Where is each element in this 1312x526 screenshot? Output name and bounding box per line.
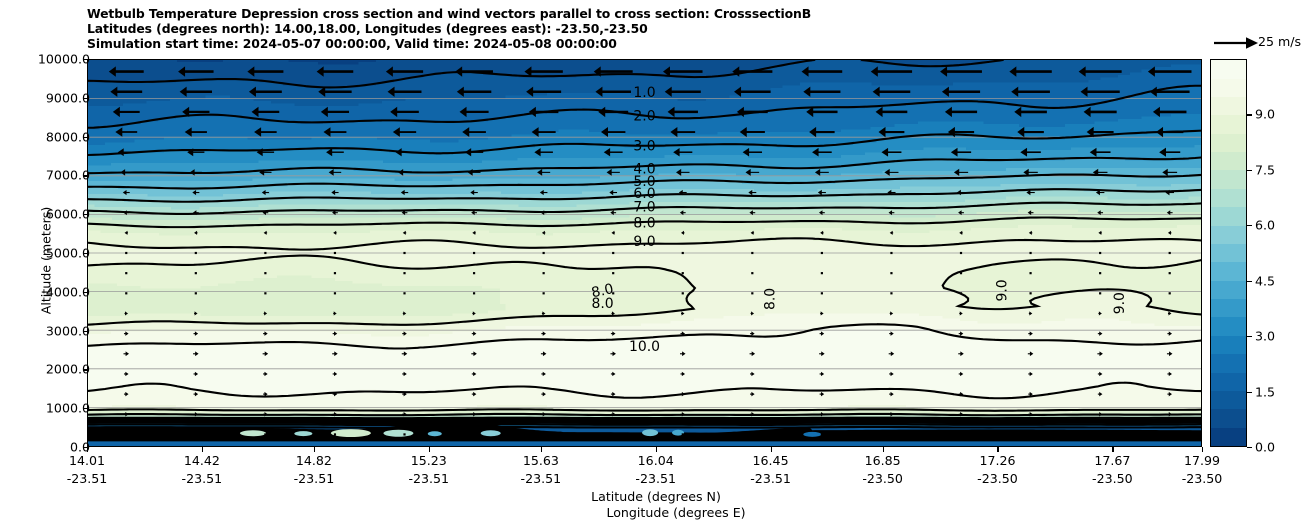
wind-vector-arrow: [403, 252, 405, 254]
x-tick-mark: [87, 447, 88, 452]
x-tick-label-latitude: 17.67: [1094, 453, 1130, 468]
x-tick-label-longitude: -23.51: [635, 471, 676, 486]
colorbar-tick-label: 6.0: [1255, 218, 1275, 233]
y-axis-label: Altitude (meters): [39, 161, 54, 361]
wind-vector-arrow: [334, 292, 336, 294]
wind-vector-arrow: [125, 292, 127, 294]
wind-vector-arrow: [751, 252, 753, 254]
x-tick-mark: [883, 447, 884, 452]
x-tick-mark: [1112, 447, 1113, 452]
colorbar-band: [1211, 97, 1246, 115]
wind-vector-arrow: [1029, 272, 1031, 274]
colorbar-tick-mark: [1247, 170, 1252, 171]
wind-vector-arrow: [403, 433, 405, 435]
title-subtitle-times: Simulation start time: 2024-05-07 00:00:…: [87, 36, 1187, 51]
surface-contour-pocket: [240, 430, 266, 436]
contour-label: 1.0: [629, 85, 660, 101]
y-tick-label: 10000.0: [38, 52, 90, 67]
contour-label: 2.0: [629, 108, 660, 124]
x-tick-mark: [429, 447, 430, 452]
wind-vector-arrow: [334, 272, 336, 274]
x-tick-label-latitude: 17.26: [979, 453, 1015, 468]
svg-text:9.0: 9.0: [1112, 292, 1128, 314]
x-tick-label-longitude: -23.51: [750, 471, 791, 486]
wind-vector-arrow: [543, 252, 545, 254]
contour-label: 8.0: [629, 216, 660, 232]
colorbar-band: [1211, 79, 1246, 97]
colorbar: [1210, 59, 1247, 447]
wind-vector-arrow: [264, 433, 266, 435]
y-tick-label: 8000.0: [46, 129, 90, 144]
surface-contour-pocket: [481, 430, 501, 436]
colorbar-band: [1211, 60, 1246, 78]
colorbar-tick-label: 3.0: [1255, 329, 1275, 344]
wind-vector-arrow: [1169, 433, 1171, 435]
x-tick-mark: [656, 447, 657, 452]
wind-vector-arrow: [821, 433, 823, 435]
x-tick-label-longitude: -23.50: [977, 471, 1018, 486]
wind-vector-arrow: [195, 433, 197, 435]
wind-vector-arrow: [960, 272, 962, 274]
x-axis-label-longitude: Longitude (degrees E): [20, 505, 1312, 520]
wind-vector-arrow: [1099, 292, 1101, 294]
wind-vector-arrow: [960, 292, 962, 294]
svg-text:10.0: 10.0: [629, 339, 660, 355]
svg-text:1.0: 1.0: [633, 85, 655, 101]
x-axis-label-latitude: Latitude (degrees N): [0, 489, 1312, 504]
cross-section-plot: 1.02.03.04.05.06.07.08.09.08.08.08.09.09…: [87, 59, 1202, 447]
wind-vector-arrow: [125, 433, 127, 435]
svg-text:8.0: 8.0: [591, 296, 613, 312]
x-tick-label-longitude: -23.51: [521, 471, 562, 486]
colorbar-tick-mark: [1247, 114, 1252, 115]
wind-vector-arrow: [890, 272, 892, 274]
colorbar-tick-label: 1.5: [1255, 384, 1275, 399]
wind-vector-arrow: [890, 292, 892, 294]
title-subtitle-coords: Latitudes (degrees north): 14.00,18.00, …: [87, 21, 1187, 36]
x-tick-mark: [202, 447, 203, 452]
wind-vector-arrow: [612, 272, 614, 274]
colorbar-band: [1211, 373, 1246, 391]
chart-title-block: Wetbulb Temperature Depression cross sec…: [87, 6, 1187, 52]
wind-vector-arrow: [473, 272, 475, 274]
colorbar-tick-mark: [1247, 281, 1252, 282]
surface-contour-pocket: [428, 431, 442, 436]
contour-label: 10.0: [625, 339, 664, 355]
wind-vector-arrow: [960, 252, 962, 254]
colorbar-band: [1211, 115, 1246, 133]
wind-vector-arrow: [264, 272, 266, 274]
wind-vector-arrow: [543, 433, 545, 435]
colorbar-tick-mark: [1247, 336, 1252, 337]
wind-vector-arrow: [264, 252, 266, 254]
y-tick-label: 2000.0: [46, 362, 90, 377]
wind-vector-arrow: [403, 272, 405, 274]
wind-vector-arrow: [751, 433, 753, 435]
colorbar-band: [1211, 134, 1246, 152]
surface-moist-sliver: [88, 441, 1201, 446]
colorbar-band: [1211, 299, 1246, 317]
wind-vector-arrow: [264, 292, 266, 294]
contour-label: 7.0: [629, 199, 660, 215]
x-tick-label-latitude: 14.01: [69, 453, 105, 468]
colorbar-band: [1211, 262, 1246, 280]
x-tick-mark: [541, 447, 542, 452]
contour-plot-svg: 1.02.03.04.05.06.07.08.09.08.08.08.09.09…: [88, 60, 1201, 446]
wind-vector-arrow: [612, 433, 614, 435]
svg-text:7.0: 7.0: [633, 199, 655, 215]
colorbar-band: [1211, 428, 1246, 446]
colorbar-band: [1211, 336, 1246, 354]
wind-vector-arrow: [682, 272, 684, 274]
wind-vector-arrow: [751, 272, 753, 274]
wind-vector-arrow: [682, 292, 684, 294]
colorbar-band: [1211, 226, 1246, 244]
contour-label: 3.0: [629, 138, 660, 154]
wind-vector-arrow: [751, 292, 753, 294]
wind-vector-arrow: [1099, 272, 1101, 274]
colorbar-band: [1211, 409, 1246, 427]
wind-vector-arrow: [195, 292, 197, 294]
x-tick-label-latitude: 17.99: [1184, 453, 1220, 468]
wind-vector-arrow: [1169, 272, 1171, 274]
colorbar-band: [1211, 152, 1246, 170]
wind-vector-arrow: [1169, 292, 1171, 294]
page-title: Wetbulb Temperature Depression cross sec…: [87, 6, 1187, 21]
surface-contour-pocket: [803, 432, 821, 437]
wind-vector-arrow: [1099, 433, 1101, 435]
wind-vector-arrow: [821, 292, 823, 294]
wind-vector-arrow: [682, 252, 684, 254]
colorbar-band: [1211, 391, 1246, 409]
x-tick-label-longitude: -23.51: [408, 471, 449, 486]
surface-contour-pocket: [383, 430, 413, 437]
wind-vector-arrow: [125, 252, 127, 254]
colorbar-tick-mark: [1247, 225, 1252, 226]
y-tick-label: 1000.0: [46, 401, 90, 416]
wind-vector-arrow: [334, 252, 336, 254]
wind-vector-arrow: [195, 252, 197, 254]
x-tick-label-longitude: -23.50: [862, 471, 903, 486]
x-tick-label-longitude: -23.50: [1092, 471, 1133, 486]
wind-vector-arrow: [1029, 252, 1031, 254]
x-tick-label-longitude: -23.51: [182, 471, 223, 486]
wind-vector-arrow: [543, 272, 545, 274]
wind-vector-arrow: [543, 292, 545, 294]
svg-text:2.0: 2.0: [633, 108, 655, 124]
contour-label: 8.0: [587, 296, 618, 312]
wind-vector-arrow: [473, 433, 475, 435]
svg-text:3.0: 3.0: [633, 138, 655, 154]
wind-vector-arrow: [1029, 433, 1031, 435]
x-tick-label-longitude: -23.51: [294, 471, 335, 486]
wind-vector-arrow: [473, 292, 475, 294]
x-tick-mark: [997, 447, 998, 452]
colorbar-tick-mark: [1247, 392, 1252, 393]
wind-vector-arrow: [125, 272, 127, 274]
x-tick-label-latitude: 14.82: [296, 453, 332, 468]
colorbar-tick-label: 7.5: [1255, 162, 1275, 177]
wind-vector-arrow: [821, 272, 823, 274]
x-tick-mark: [1202, 447, 1203, 452]
figure-canvas: Wetbulb Temperature Depression cross sec…: [0, 0, 1312, 526]
y-tick-label: 9000.0: [46, 90, 90, 105]
wind-vector-arrow: [195, 272, 197, 274]
colorbar-band: [1211, 170, 1246, 188]
wind-vector-arrow: [473, 252, 475, 254]
x-tick-label-latitude: 16.85: [865, 453, 901, 468]
x-tick-label-latitude: 15.63: [523, 453, 559, 468]
wind-vector-arrow: [1169, 252, 1171, 254]
colorbar-tick-mark: [1247, 447, 1252, 448]
x-tick-label-latitude: 15.23: [411, 453, 447, 468]
svg-text:9.0: 9.0: [994, 279, 1010, 301]
contour-label: 9.0: [629, 234, 660, 250]
wind-vector-arrow: [890, 252, 892, 254]
surface-contour-pocket: [331, 429, 371, 437]
x-tick-label-latitude: 16.45: [753, 453, 789, 468]
wind-vector-arrow: [334, 433, 336, 435]
wind-vector-arrow: [403, 292, 405, 294]
wind-vector-arrow: [682, 433, 684, 435]
surface-contour-pocket: [294, 431, 312, 436]
svg-text:9.0: 9.0: [633, 234, 655, 250]
colorbar-tick-label: 9.0: [1255, 107, 1275, 122]
colorbar-band: [1211, 244, 1246, 262]
colorbar-band: [1211, 189, 1246, 207]
surface-contour-pocket: [642, 429, 658, 436]
colorbar-band: [1211, 354, 1246, 372]
wind-vector-arrow: [612, 252, 614, 254]
svg-text:8.0: 8.0: [762, 288, 778, 310]
colorbar-band: [1211, 317, 1246, 335]
colorbar-tick-label: 0.0: [1255, 440, 1275, 455]
x-tick-label-longitude: -23.50: [1182, 471, 1223, 486]
wind-vector-arrow: [1099, 252, 1101, 254]
x-tick-mark: [771, 447, 772, 452]
wind-vector-arrow: [1029, 292, 1031, 294]
colorbar-band: [1211, 281, 1246, 299]
svg-text:8.0: 8.0: [633, 216, 655, 232]
x-tick-mark: [314, 447, 315, 452]
wind-vector-arrow: [821, 252, 823, 254]
x-tick-label-latitude: 14.42: [184, 453, 220, 468]
colorbar-tick-label: 4.5: [1255, 273, 1275, 288]
colorbar-band: [1211, 207, 1246, 225]
wind-vector-arrow: [960, 433, 962, 435]
x-tick-label-longitude: -23.51: [67, 471, 108, 486]
wind-vector-arrow: [890, 433, 892, 435]
quiver-key-label: 25 m/s: [1258, 34, 1301, 49]
x-tick-label-latitude: 16.04: [638, 453, 674, 468]
